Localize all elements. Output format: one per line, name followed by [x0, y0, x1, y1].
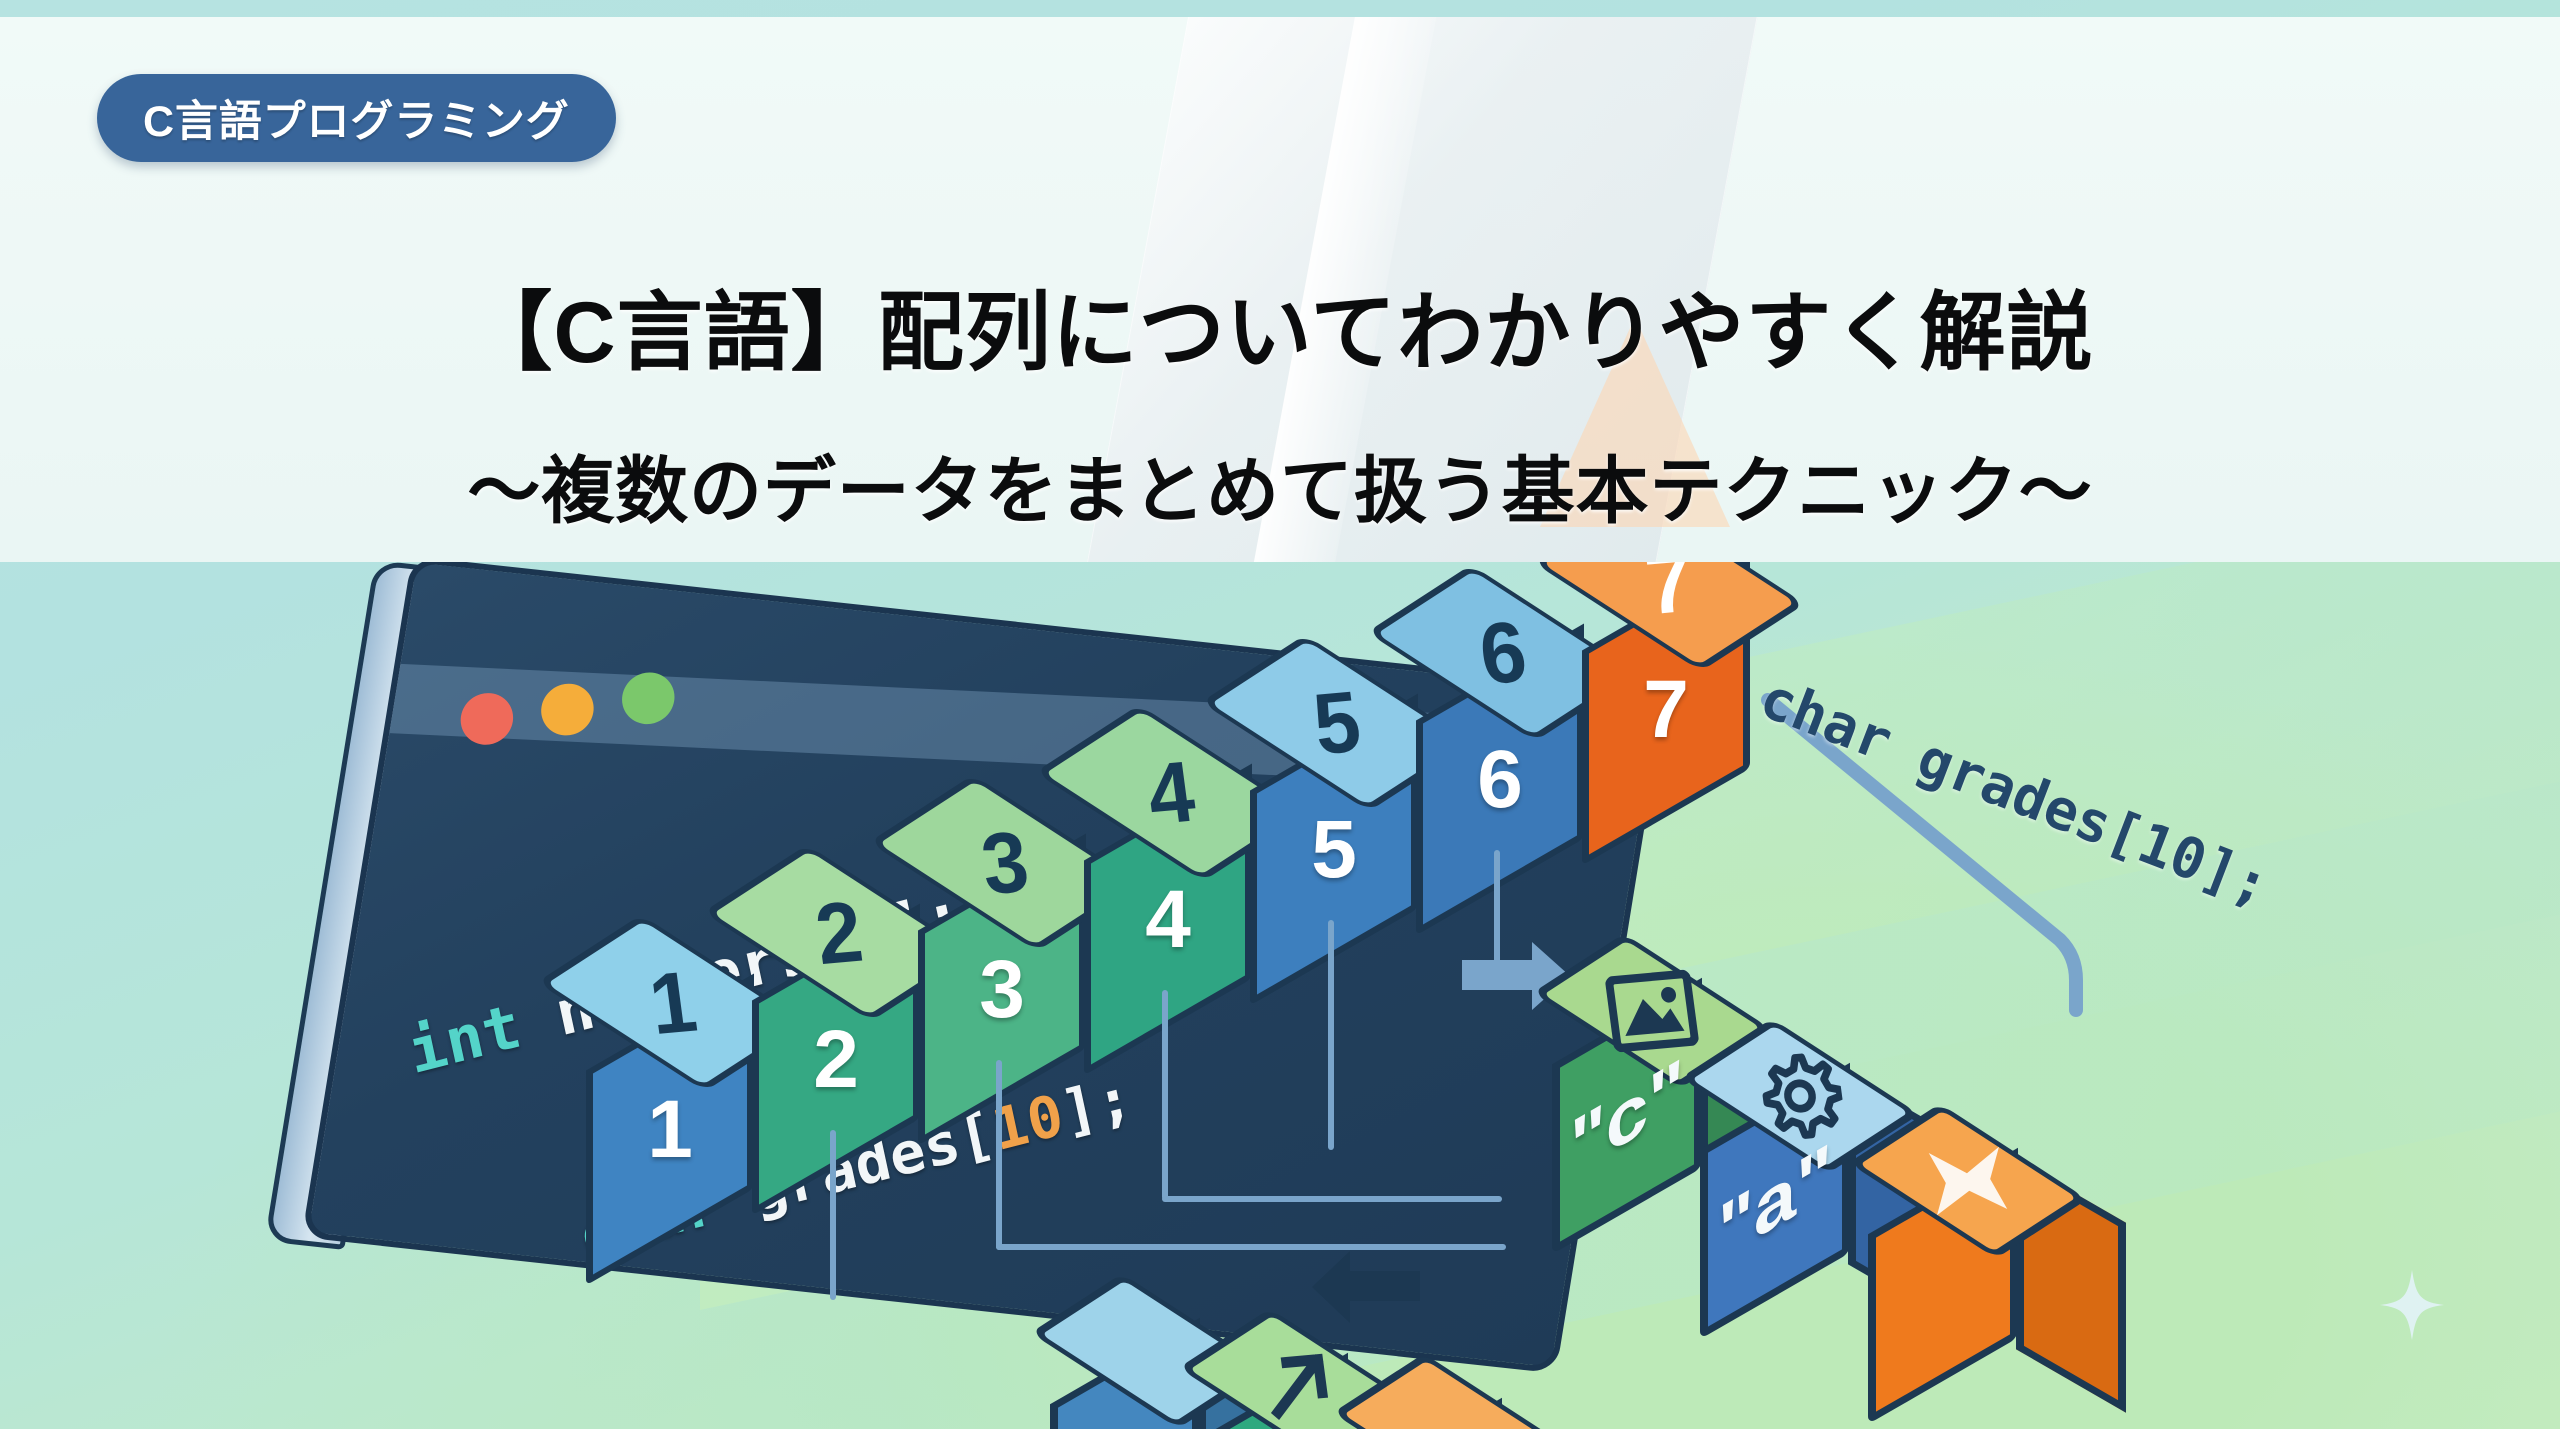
connector-line: [996, 1244, 1506, 1250]
connector-line: [830, 1130, 836, 1300]
category-badge-label: C言語プログラミング: [143, 87, 570, 149]
category-badge[interactable]: C言語プログラミング: [97, 74, 616, 162]
char-cube-orange: [1868, 1095, 2098, 1395]
connector-line: [1328, 920, 1334, 1150]
header-band: C言語プログラミング 【C言語】配列についてわかりやすく解説 〜複数のデータをま…: [0, 17, 2560, 562]
connector-line: [996, 1060, 1002, 1250]
connector-line: [1162, 990, 1168, 1200]
bottom-cube-orange: [1352, 1345, 1582, 1429]
connector-line: [1162, 1196, 1502, 1202]
page-subtitle: 〜複数のデータをまとめて扱う基本テクニック〜: [0, 432, 2560, 538]
cube-top-face: [1333, 1353, 1572, 1429]
page-title: 【C言語】配列についてわかりやすく解説: [0, 262, 2560, 387]
code-keyword: int: [402, 989, 528, 1087]
